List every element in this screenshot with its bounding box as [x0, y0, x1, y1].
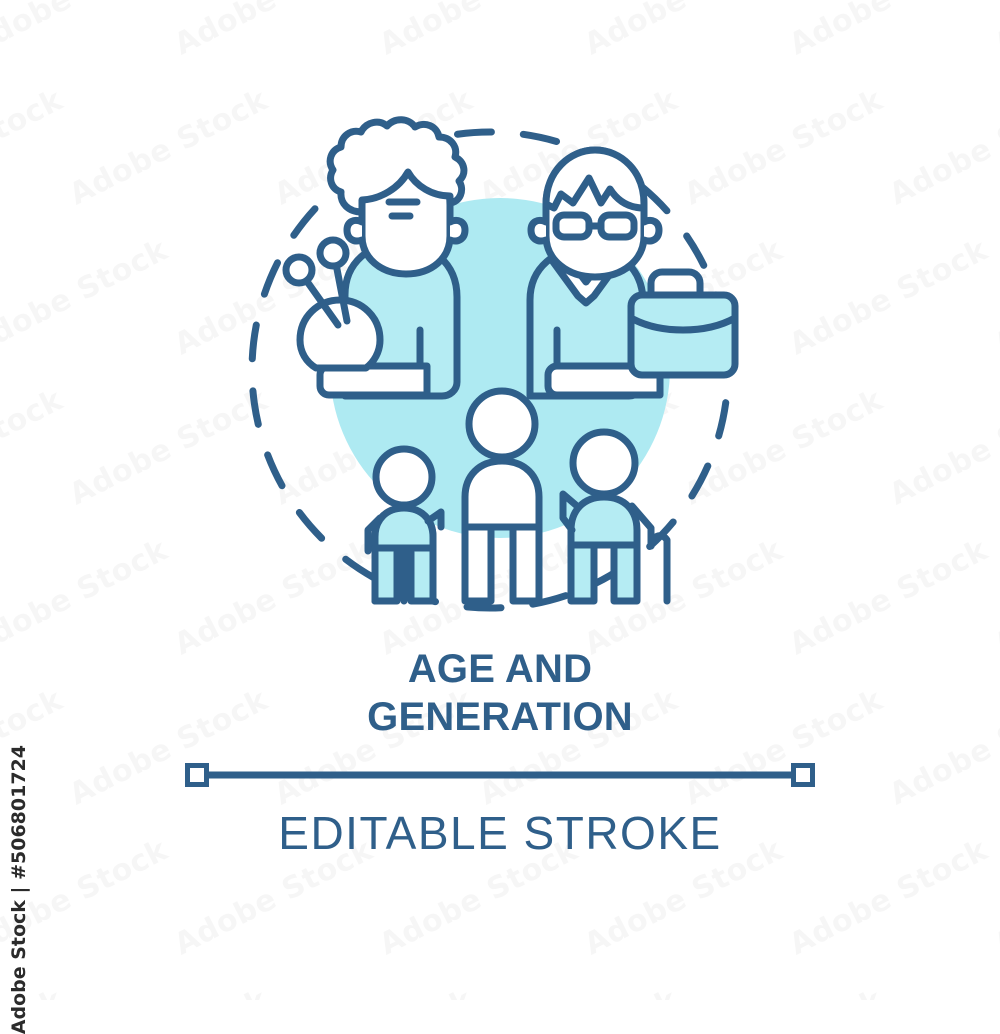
- senior-figure-with-cane: [563, 432, 667, 601]
- concept-title: AGE AND GENERATION: [0, 645, 1000, 741]
- title-line-1: AGE AND: [0, 645, 1000, 693]
- man-ear-right: [644, 220, 659, 241]
- briefcase-body: [631, 295, 735, 375]
- senior-head: [573, 432, 635, 494]
- walking-cane: [651, 536, 667, 601]
- glasses-lens-left: [556, 215, 589, 237]
- man-with-glasses-figure: [530, 150, 735, 396]
- knitting-needle-1-tip: [320, 240, 346, 266]
- man-ear-left: [531, 220, 546, 241]
- editable-stroke-divider: [185, 763, 815, 787]
- glasses-lens-right: [601, 215, 634, 237]
- divider-cap-left: [188, 766, 207, 785]
- canvas-root: Adobe StockAdobe StockAdobe StockAdobe S…: [0, 0, 1000, 1000]
- adult-figure: [465, 391, 539, 601]
- title-line-2: GENERATION: [0, 693, 1000, 741]
- editable-stroke-label: EDITABLE STROKE: [0, 805, 1000, 861]
- woman-ear-right: [450, 220, 465, 241]
- watermark-text: Adobe Stock: [269, 983, 479, 1000]
- child-figure: [368, 449, 441, 601]
- watermark-text: Adobe Stock: [679, 983, 889, 1000]
- adult-head: [469, 391, 535, 457]
- elderly-woman-knitting-figure: [286, 120, 465, 396]
- stock-credit-text: Adobe Stock | #506801724: [8, 745, 30, 1034]
- divider-cap-right: [794, 766, 813, 785]
- knitting-needle-2-tip: [286, 257, 312, 283]
- yarn-ball: [300, 300, 380, 368]
- senior-body: [571, 497, 637, 601]
- watermark-text: Adobe Stock: [64, 983, 274, 1000]
- concept-illustration: [0, 0, 1000, 640]
- child-head: [376, 449, 432, 505]
- watermark-text: Adobe Stock: [474, 983, 684, 1000]
- woman-ear-left: [347, 220, 362, 241]
- watermark-text: Adobe Stock: [884, 983, 1000, 1000]
